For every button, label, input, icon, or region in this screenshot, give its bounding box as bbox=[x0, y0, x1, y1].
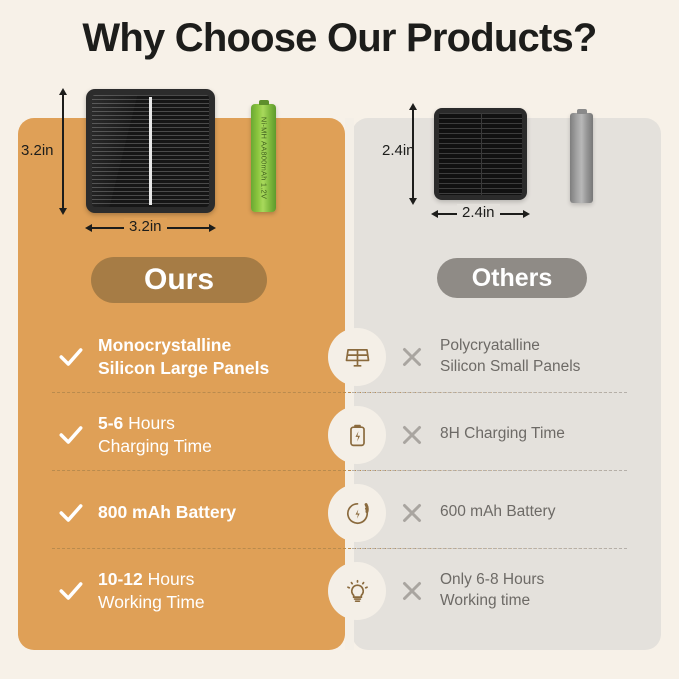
others-feature-text: Polycryatalline Silicon Small Panels bbox=[440, 336, 580, 376]
ours-feature-value: 800 mAh Battery bbox=[98, 502, 236, 522]
others-feature-line1: Polycryatalline bbox=[440, 337, 540, 354]
comparison-rows: Monocrystalline Silicon Large Panels Pol… bbox=[0, 0, 679, 679]
others-feature-line1: Only 6-8 Hours bbox=[440, 571, 544, 588]
ours-feature-value: 5-6 bbox=[98, 413, 123, 433]
ours-feature-text: 800 mAh Battery bbox=[98, 501, 236, 523]
others-feature-line2: Working time bbox=[440, 592, 530, 609]
x-icon bbox=[400, 423, 424, 447]
row-separator bbox=[352, 470, 627, 471]
charge-cycle-icon bbox=[344, 500, 371, 527]
others-feature-text: 8H Charging Time bbox=[440, 424, 565, 444]
others-feature-charging: 8H Charging Time bbox=[400, 396, 670, 473]
infographic-root: Why Choose Our Products? Ni-MH AA800mAh … bbox=[0, 0, 679, 679]
ours-feature-panels: Monocrystalline Silicon Large Panels bbox=[58, 318, 348, 395]
ours-feature-value: 10-12 bbox=[98, 569, 143, 589]
others-feature-line1: 8H Charging Time bbox=[440, 425, 565, 442]
check-icon bbox=[58, 422, 84, 448]
ours-feature-line2: Working Time bbox=[98, 592, 205, 612]
check-icon bbox=[58, 344, 84, 370]
charge-cycle-icon-badge bbox=[331, 487, 383, 539]
solar-panel-icon-badge bbox=[331, 331, 383, 383]
others-feature-line2: Silicon Small Panels bbox=[440, 358, 580, 375]
ours-feature-working: 10-12 Hours Working Time bbox=[58, 552, 348, 629]
others-feature-battery: 600 mAh Battery bbox=[400, 474, 670, 551]
ours-feature-text: Monocrystalline Silicon Large Panels bbox=[98, 334, 269, 379]
ours-feature-text: 10-12 Hours Working Time bbox=[98, 568, 205, 613]
ours-feature-unit: Hours bbox=[128, 413, 175, 433]
check-icon bbox=[58, 500, 84, 526]
others-feature-line1: 600 mAh Battery bbox=[440, 503, 555, 520]
x-icon bbox=[400, 501, 424, 525]
battery-bolt-icon-badge bbox=[331, 409, 383, 461]
others-feature-panels: Polycryatalline Silicon Small Panels bbox=[400, 318, 670, 395]
others-feature-text: 600 mAh Battery bbox=[440, 502, 555, 522]
lightbulb-icon-badge bbox=[331, 565, 383, 617]
lightbulb-icon bbox=[344, 578, 371, 605]
ours-feature-line2: Silicon Large Panels bbox=[98, 358, 269, 378]
row-separator bbox=[352, 548, 627, 549]
x-icon bbox=[400, 579, 424, 603]
solar-panel-icon bbox=[344, 344, 371, 371]
others-feature-text: Only 6-8 Hours Working time bbox=[440, 570, 544, 610]
ours-feature-battery: 800 mAh Battery bbox=[58, 474, 348, 551]
others-feature-working: Only 6-8 Hours Working time bbox=[400, 552, 670, 629]
ours-feature-charging: 5-6 Hours Charging Time bbox=[58, 396, 348, 473]
check-icon bbox=[58, 578, 84, 604]
battery-bolt-icon bbox=[344, 422, 371, 449]
row-separator bbox=[352, 392, 627, 393]
ours-feature-unit: Hours bbox=[148, 569, 195, 589]
ours-feature-line2: Charging Time bbox=[98, 436, 212, 456]
ours-feature-line1: Monocrystalline bbox=[98, 335, 231, 355]
ours-feature-text: 5-6 Hours Charging Time bbox=[98, 412, 212, 457]
x-icon bbox=[400, 345, 424, 369]
